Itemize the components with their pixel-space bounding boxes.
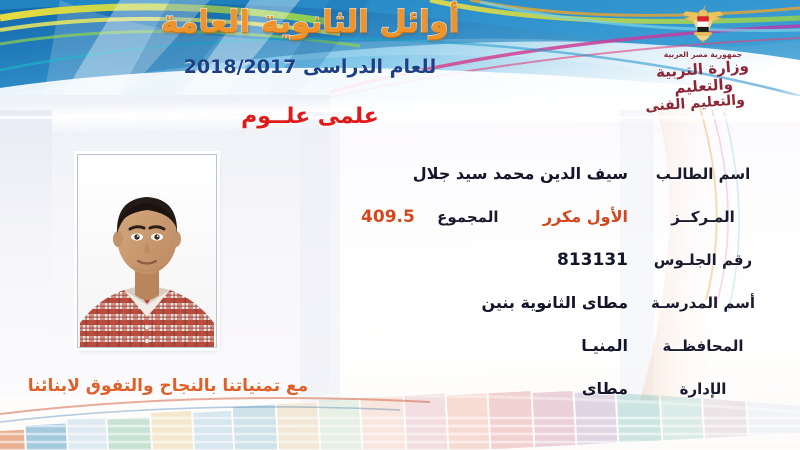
table-row: اسم الطالـب سيف الدين محمد سيد جلال [242, 152, 762, 195]
student-portrait-illustration [78, 155, 216, 347]
label-school-name: أسم المدرسـة [644, 294, 762, 312]
table-row: الإدارة مطاى [242, 367, 762, 410]
value-total-score: 409.5 [361, 207, 415, 227]
label-seat-number: رقم الجلـوس [644, 251, 762, 269]
label-student-name: اسم الطالـب [644, 165, 762, 183]
page-title: أوائل الثانوية العامة [0, 2, 620, 42]
value-rank: الأول مكرر [543, 207, 628, 226]
label-total-score: المجموع [431, 208, 505, 226]
certificate-card: جمهورية مصر العربية وزارة التربية والتعل… [0, 0, 800, 450]
table-row: أسم المدرسـة مطاى الثانوية بنين [242, 281, 762, 324]
ministry-logo: جمهورية مصر العربية وزارة التربية والتعل… [628, 2, 778, 120]
congratulation-message: مع تمنياتنا بالنجاح والتفوق لابنائنا [18, 376, 318, 396]
value-seat-number: 813131 [557, 250, 628, 270]
table-row: رقم الجلـوس 813131 [242, 238, 762, 281]
value-governorate: المنيـا [581, 336, 628, 355]
student-photo [77, 154, 217, 348]
student-info-table: اسم الطالـب سيف الدين محمد سيد جلال المـ… [242, 152, 762, 410]
academic-year-label: للعام الدراسى 2018/2017 [0, 56, 620, 78]
value-student-name: سيف الدين محمد سيد جلال [413, 164, 628, 183]
table-row: المـركــز الأول مكرر المجموع 409.5 [242, 195, 762, 238]
value-administration: مطاى [582, 379, 628, 398]
value-school-name: مطاى الثانوية بنين [481, 293, 628, 312]
label-rank: المـركــز [644, 208, 762, 226]
egypt-eagle-emblem-icon [680, 2, 726, 48]
label-governorate: المحافظــة [644, 337, 762, 355]
section-label: علمى علــوم [0, 104, 620, 129]
label-administration: الإدارة [644, 380, 762, 398]
table-row: المحافظــة المنيـا [242, 324, 762, 367]
